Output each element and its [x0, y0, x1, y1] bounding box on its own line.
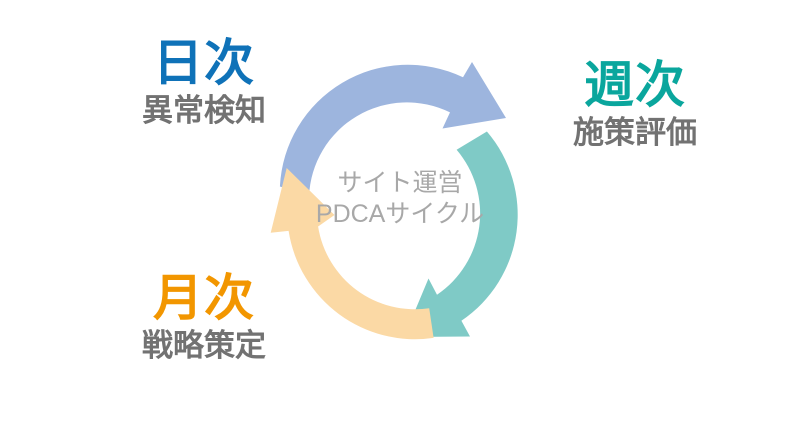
center-caption: サイト運営 PDCAサイクル — [300, 168, 500, 229]
center-caption-line1: サイト運営 — [300, 168, 500, 199]
teal-arrow — [404, 132, 518, 338]
stage-title-weekly: 週次 — [540, 60, 730, 110]
stage-label-weekly: 週次 施策評価 — [540, 60, 730, 148]
stage-label-monthly: 月次 戦略策定 — [104, 273, 304, 361]
stage-subtitle-daily: 異常検知 — [104, 95, 304, 126]
stage-title-monthly: 月次 — [104, 273, 304, 323]
pdca-cycle-diagram: 日次 異常検知 週次 施策評価 月次 戦略策定 サイト運営 PDCAサイクル — [0, 0, 810, 425]
stage-label-daily: 日次 異常検知 — [104, 38, 304, 126]
center-caption-line2: PDCAサイクル — [300, 199, 500, 230]
stage-subtitle-weekly: 施策評価 — [540, 117, 730, 148]
stage-title-daily: 日次 — [104, 38, 304, 88]
teal-arrow-shape — [404, 132, 518, 338]
stage-subtitle-monthly: 戦略策定 — [104, 330, 304, 361]
